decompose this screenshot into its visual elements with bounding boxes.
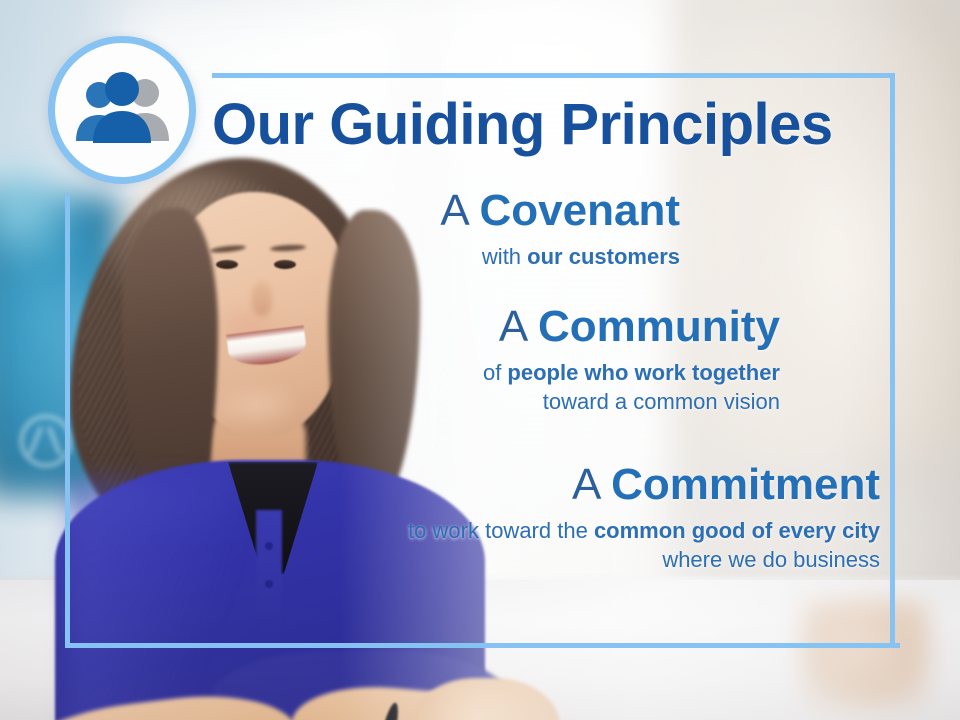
principle-heading: A Covenant bbox=[280, 188, 680, 234]
subtext-part: with bbox=[482, 244, 527, 269]
principle-keyword: Commitment bbox=[611, 460, 880, 509]
banner-stage: FLOW FLOW AUTOMOTIVE bbox=[0, 0, 960, 720]
principle-subtext: of people who work together toward a com… bbox=[330, 358, 780, 417]
subtext-part-bold: our customers bbox=[527, 244, 680, 269]
principle-article: A bbox=[499, 302, 538, 351]
principle-subtext: with our customers bbox=[280, 242, 680, 271]
principle-keyword: Covenant bbox=[480, 186, 680, 235]
principle-heading: A Commitment bbox=[390, 462, 880, 508]
subtext-part: to work toward the bbox=[408, 518, 594, 543]
page-title: Our Guiding Principles bbox=[212, 96, 888, 154]
people-group-badge bbox=[48, 36, 196, 184]
principle-article: A bbox=[440, 186, 479, 235]
subtext-part-bold: people who work together bbox=[507, 360, 780, 385]
subtext-line2: toward a common vision bbox=[543, 389, 780, 414]
principle-commitment: A Commitment to work toward the common g… bbox=[390, 462, 880, 575]
subtext-part-tail: where we do business bbox=[662, 547, 880, 572]
principle-community: A Community of people who work together … bbox=[330, 304, 780, 417]
subtext-part-bold: common good of every city bbox=[594, 518, 880, 543]
principle-article: A bbox=[572, 460, 611, 509]
principle-covenant: A Covenant with our customers bbox=[280, 188, 680, 271]
people-group-icon bbox=[69, 71, 175, 149]
principle-subtext: to work toward the common good of every … bbox=[390, 516, 880, 575]
principle-heading: A Community bbox=[330, 304, 780, 350]
subtext-part: of bbox=[483, 360, 507, 385]
principle-keyword: Community bbox=[538, 302, 780, 351]
